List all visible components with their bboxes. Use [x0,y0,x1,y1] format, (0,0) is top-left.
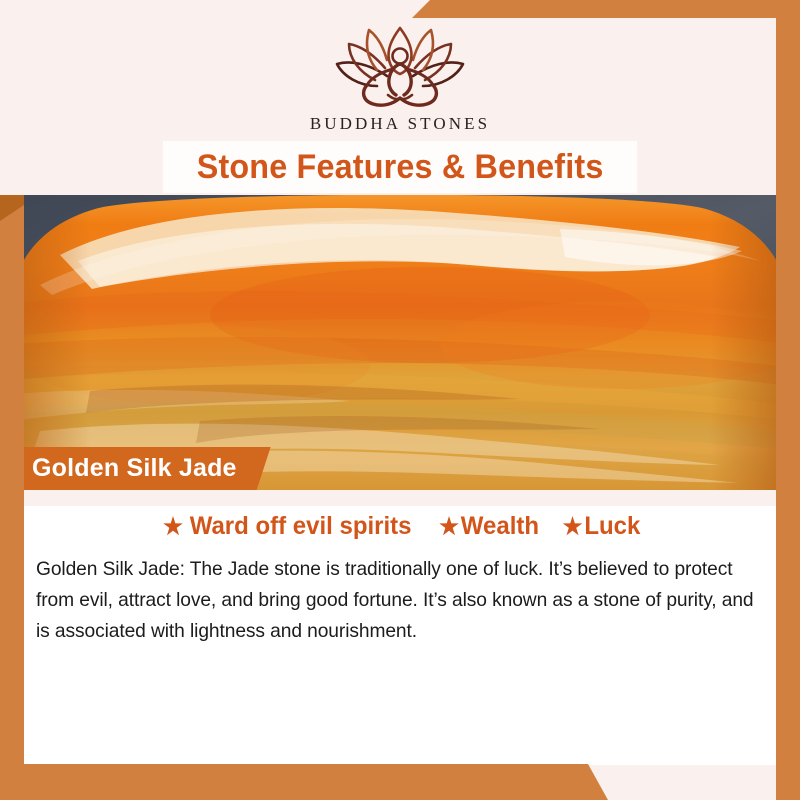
benefit-label-1: Wealth [461,512,539,540]
frame-left-bar [0,195,24,800]
stone-photo-image [0,195,800,490]
brand-name: BUDDHA STONES [0,114,800,134]
stone-photo [0,195,800,490]
benefit-item-1: ★Wealth [439,512,539,541]
frame-right-bar [776,0,800,800]
content-area: ★Ward off evil spirits ★Wealth ★Luck Gol… [24,490,776,765]
brand-logo: BUDDHA STONES [0,22,800,134]
star-icon: ★ [439,513,459,539]
benefit-label-0: Ward off evil spirits [189,512,411,540]
benefit-item-0: ★Ward off evil spirits [163,512,411,541]
lotus-meditation-figure-icon [325,22,475,110]
stone-name-banner: Golden Silk Jade [0,447,271,490]
benefit-label-2: Luck [585,512,641,540]
infographic-page: BUDDHA STONES Stone Features & Benefits [0,0,800,800]
benefit-item-2: ★Luck [563,512,641,541]
title-banner: Stone Features & Benefits [163,141,637,193]
page-title: Stone Features & Benefits [197,148,604,187]
benefits-list: ★Ward off evil spirits ★Wealth ★Luck [24,512,776,541]
stone-description: Golden Silk Jade: The Jade stone is trad… [36,554,765,647]
frame-bottom-bar [0,764,800,800]
content-top-strip [24,490,776,506]
star-icon: ★ [163,513,183,539]
star-icon: ★ [563,513,583,539]
stone-name-label: Golden Silk Jade [32,454,237,483]
